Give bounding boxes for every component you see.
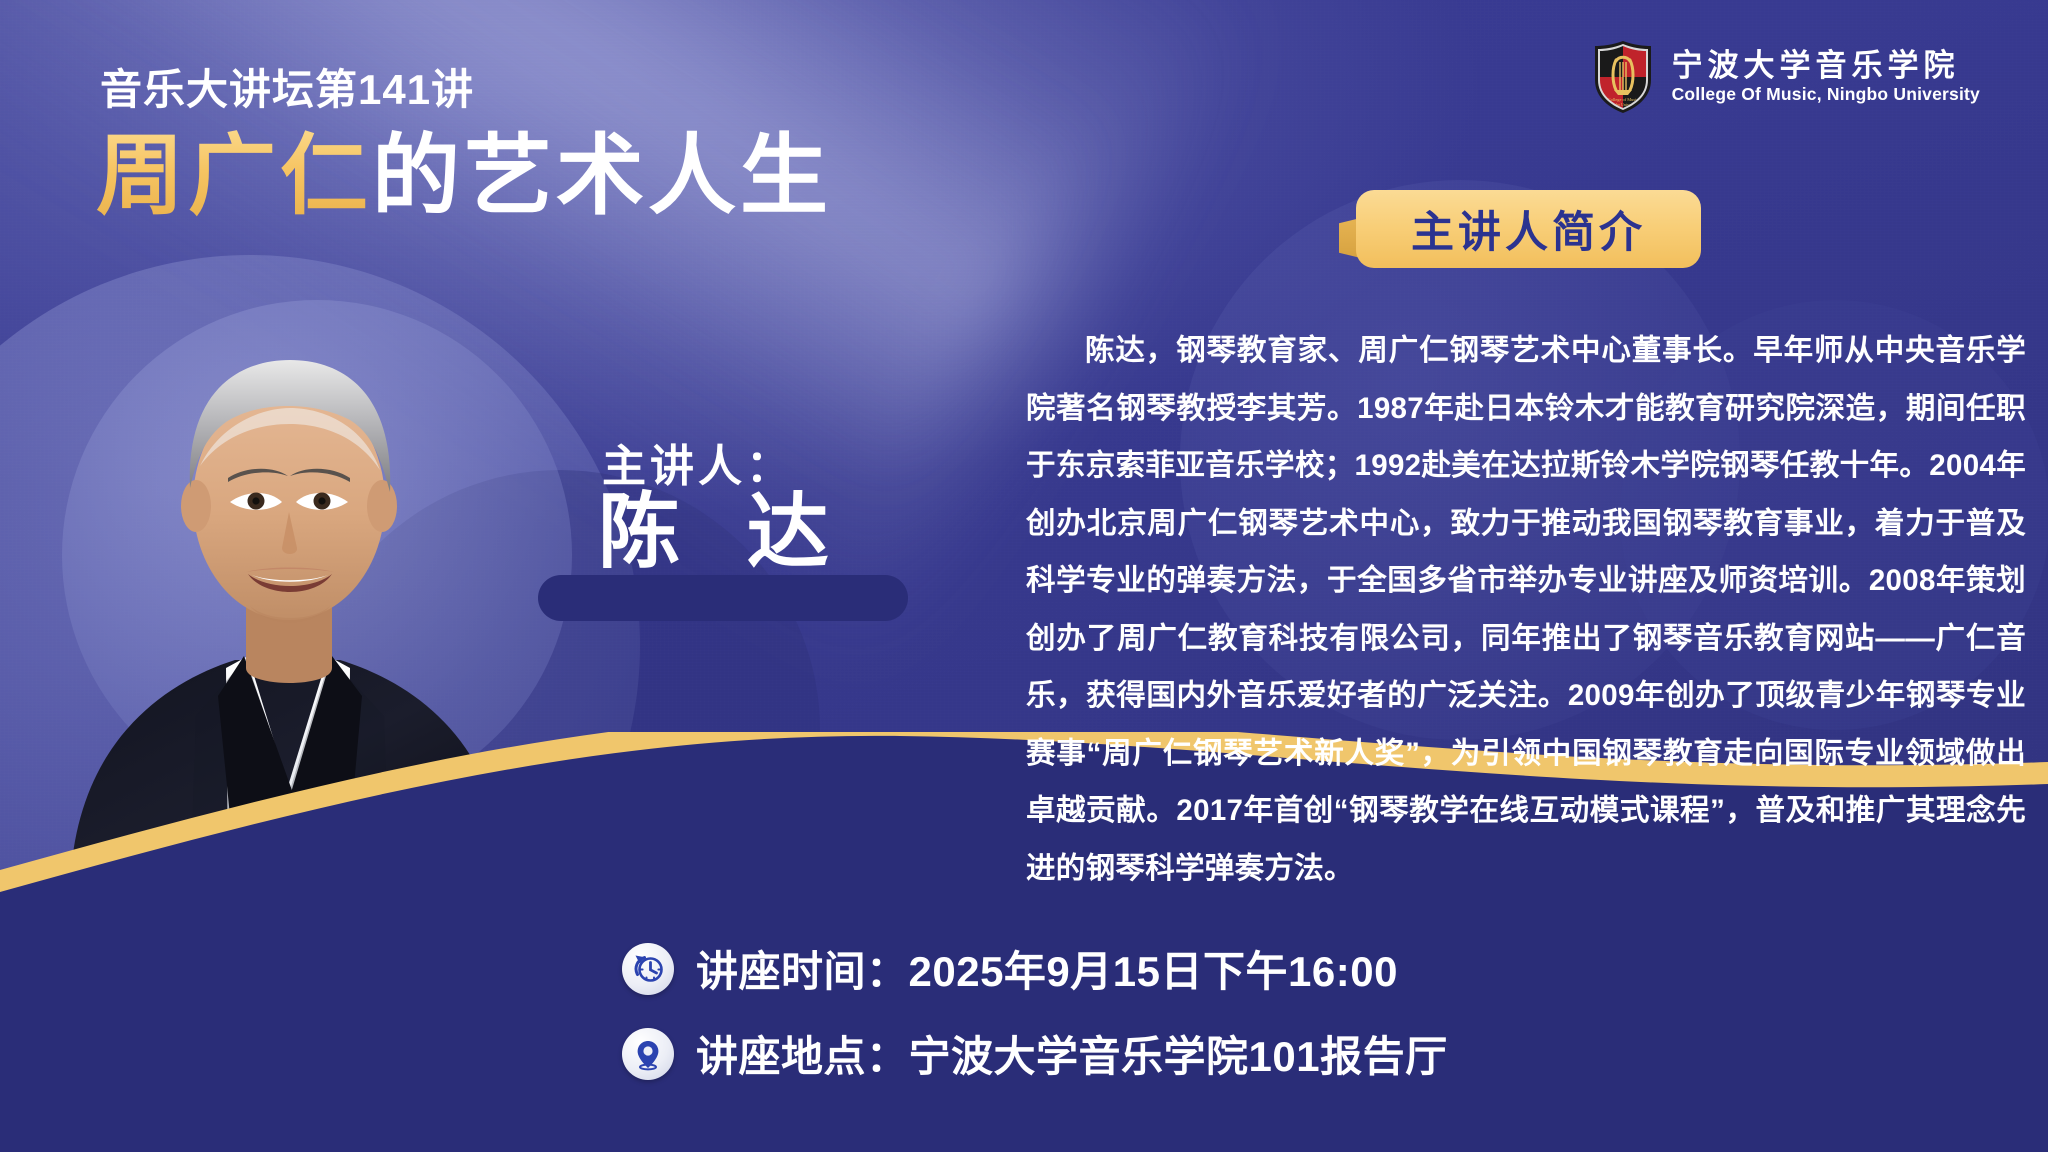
bio-text: 陈达，钢琴教育家、周广仁钢琴艺术中心董事长。早年师从中央音乐学院著名钢琴教授李其… bbox=[1026, 322, 2026, 897]
logo-name-cn: 宁波大学音乐学院 bbox=[1672, 49, 1980, 83]
page-title: 周广仁的艺术人生 bbox=[96, 132, 832, 220]
event-time-text: 讲座时间：2025年9月15日下午16:00 bbox=[696, 938, 1398, 999]
bio-badge: 主讲人简介 bbox=[1356, 190, 1701, 268]
page-kicker: 音乐大讲坛第141讲 bbox=[100, 56, 474, 117]
speaker-name-underbar bbox=[538, 575, 908, 621]
event-place-row: 讲座地点：宁波大学音乐学院101报告厅 bbox=[622, 1023, 1448, 1084]
shield-lyre-icon: College of Music Ningbo University bbox=[1592, 40, 1654, 114]
bio-badge-label: 主讲人简介 bbox=[1411, 198, 1646, 260]
speaker-label: 主讲人： bbox=[602, 430, 794, 494]
logo-name-en: College Of Music, Ningbo University bbox=[1672, 85, 1980, 104]
event-time-row: 讲座时间：2025年9月15日下午16:00 bbox=[622, 938, 1448, 999]
poster-canvas: 音乐大讲坛第141讲 周广仁的艺术人生 College of Music Nin… bbox=[0, 0, 2048, 1152]
clock-icon bbox=[622, 943, 674, 995]
page-title-white: 的艺术人生 bbox=[372, 126, 832, 225]
university-logo: College of Music Ningbo University 宁波大学音… bbox=[1592, 40, 1980, 114]
event-info: 讲座时间：2025年9月15日下午16:00 讲座地点：宁波大学音乐学院101报… bbox=[622, 938, 1448, 1084]
speaker-name: 陈 达 bbox=[598, 492, 851, 574]
location-pin-icon bbox=[622, 1028, 674, 1080]
event-place-text: 讲座地点：宁波大学音乐学院101报告厅 bbox=[696, 1023, 1448, 1084]
page-title-gold: 周广仁 bbox=[96, 126, 372, 225]
